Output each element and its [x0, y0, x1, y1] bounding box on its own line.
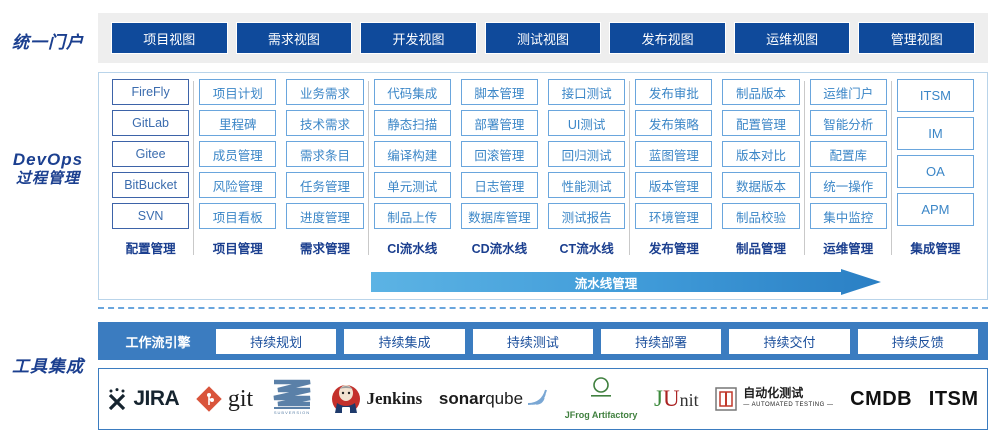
devops-cell[interactable]: 回归测试: [548, 141, 625, 167]
workflow-stage-6[interactable]: 持续反馈: [858, 329, 978, 354]
portal-button-5[interactable]: 发布视图: [609, 22, 726, 54]
devops-column-title: 制品管理: [722, 238, 799, 257]
section-divider: [98, 307, 988, 309]
sonarqube-label: sonarqube: [439, 389, 523, 409]
devops-column-9: 运维门户智能分析配置库统一操作集中监控运维管理: [805, 79, 892, 257]
git-icon: [196, 386, 222, 412]
devops-cell[interactable]: Gitee: [112, 141, 189, 167]
workflow-stage-1[interactable]: 持续规划: [216, 329, 336, 354]
column-spacer: [897, 231, 974, 237]
logo-junit[interactable]: JUnit: [654, 376, 699, 422]
devops-cell[interactable]: 运维门户: [810, 79, 887, 105]
devops-cell[interactable]: 性能测试: [548, 172, 625, 198]
portal-button-bar: 项目视图需求视图开发视图测试视图发布视图运维视图管理视图: [98, 13, 988, 63]
devops-cell[interactable]: 静态扫描: [374, 110, 451, 136]
devops-cell[interactable]: 智能分析: [810, 110, 887, 136]
portal-button-1[interactable]: 项目视图: [111, 22, 228, 54]
workflow-stage-2[interactable]: 持续集成: [344, 329, 464, 354]
portal-button-4[interactable]: 测试视图: [485, 22, 602, 54]
devops-cell[interactable]: 业务需求: [286, 79, 363, 105]
column-spacer: [548, 234, 625, 237]
devops-column-title: CI流水线: [374, 238, 451, 257]
sonarqube-wave-icon: [526, 388, 548, 411]
devops-cell[interactable]: 蓝图管理: [635, 141, 712, 167]
devops-cell[interactable]: BitBucket: [112, 172, 189, 198]
devops-cell[interactable]: 项目看板: [199, 203, 276, 229]
logo-sonarqube[interactable]: sonarqube: [439, 376, 548, 422]
rail-label-tools: 工具集成: [0, 352, 96, 377]
jenkins-icon: [331, 382, 361, 416]
logo-subversion[interactable]: SUBVERSION: [270, 376, 314, 422]
workflow-stage-4[interactable]: 持续部署: [601, 329, 721, 354]
devops-cell[interactable]: 需求条目: [286, 141, 363, 167]
devops-cell[interactable]: 制品上传: [374, 203, 451, 229]
jira-label: JIRA: [133, 387, 179, 411]
jfrog-block: JFrog Artifactory: [565, 376, 638, 423]
tool-logo-strip: JIRAgitSUBVERSIONJenkinssonarqubeJFrog A…: [98, 368, 988, 430]
devops-column-2: 项目计划里程碑成员管理风险管理项目看板项目管理: [194, 79, 281, 257]
devops-cell[interactable]: 成员管理: [199, 141, 276, 167]
devops-cell[interactable]: 进度管理: [286, 203, 363, 229]
column-spacer: [810, 234, 887, 237]
junit-label: JUnit: [654, 386, 699, 412]
logo-cmdb[interactable]: CMDB: [850, 376, 912, 422]
devops-cell[interactable]: 版本对比: [722, 141, 799, 167]
devops-column-4: 代码集成静态扫描编译构建单元测试制品上传CI流水线: [369, 79, 456, 257]
devops-cell[interactable]: SVN: [112, 203, 189, 229]
devops-cell[interactable]: 项目计划: [199, 79, 276, 105]
rail-label-portal: 统一门户: [0, 28, 96, 53]
devops-column-7: 发布审批发布策略蓝图管理版本管理环境管理发布管理: [630, 79, 717, 257]
rail-label-devops-en: DevOps: [0, 150, 96, 169]
devops-column-10: ITSMIMOAAPM集成管理: [892, 79, 979, 257]
devops-cell[interactable]: 数据库管理: [461, 203, 538, 229]
devops-cell[interactable]: 发布审批: [635, 79, 712, 105]
column-spacer: [722, 234, 799, 237]
workflow-stage-5[interactable]: 持续交付: [729, 329, 849, 354]
devops-cell[interactable]: 环境管理: [635, 203, 712, 229]
devops-column-6: 接口测试UI测试回归测试性能测试测试报告CT流水线: [543, 79, 630, 257]
workflow-stage-3[interactable]: 持续测试: [473, 329, 593, 354]
devops-process-card: FireFlyGitLabGiteeBitBucketSVN配置管理项目计划里程…: [98, 72, 988, 300]
devops-cell[interactable]: FireFly: [112, 79, 189, 105]
devops-column-title: 配置管理: [112, 238, 189, 257]
jira-icon: [107, 388, 127, 410]
devops-column-3: 业务需求技术需求需求条目任务管理进度管理需求管理: [281, 79, 368, 257]
devops-cell[interactable]: APM: [897, 193, 974, 226]
devops-cell[interactable]: 编译构建: [374, 141, 451, 167]
devops-cell[interactable]: 单元测试: [374, 172, 451, 198]
git-label: git: [228, 386, 253, 413]
itsm-label: ITSM: [929, 388, 979, 411]
devops-cell[interactable]: 配置库: [810, 141, 887, 167]
portal-button-2[interactable]: 需求视图: [236, 22, 353, 54]
logo-git[interactable]: git: [196, 376, 253, 422]
devops-cell[interactable]: 日志管理: [461, 172, 538, 198]
devops-column-5: 脚本管理部署管理回滚管理日志管理数据库管理CD流水线: [456, 79, 543, 257]
devops-column-title: 发布管理: [635, 238, 712, 257]
svg-text:SUBVERSION: SUBVERSION: [274, 410, 310, 415]
devops-cell[interactable]: 任务管理: [286, 172, 363, 198]
automated-testing-icon: [715, 387, 737, 411]
devops-cell[interactable]: IM: [897, 117, 974, 150]
devops-cell[interactable]: 接口测试: [548, 79, 625, 105]
devops-column-title: CT流水线: [548, 238, 625, 257]
devops-cell[interactable]: 数据版本: [722, 172, 799, 198]
devops-column-title: 集成管理: [897, 238, 974, 257]
pipeline-arrow-label: 流水线管理: [371, 269, 841, 295]
devops-column-8: 制品版本配置管理版本对比数据版本制品校验制品管理: [717, 79, 804, 257]
logo-automated-testing[interactable]: 自动化测试— AUTOMATED TESTING —: [715, 376, 833, 422]
column-spacer: [635, 234, 712, 237]
devops-cell[interactable]: 测试报告: [548, 203, 625, 229]
logo-jira[interactable]: JIRA: [107, 376, 179, 422]
column-spacer: [286, 234, 363, 237]
devops-cell[interactable]: 统一操作: [810, 172, 887, 198]
subversion-icon: SUBVERSION: [270, 378, 314, 421]
devops-column-title: 项目管理: [199, 238, 276, 257]
devops-columns: FireFlyGitLabGiteeBitBucketSVN配置管理项目计划里程…: [99, 73, 987, 257]
devops-cell[interactable]: 配置管理: [722, 110, 799, 136]
devops-column-title: 运维管理: [810, 238, 887, 257]
devops-cell[interactable]: 技术需求: [286, 110, 363, 136]
workflow-engine-label: 工作流引擎: [104, 332, 212, 351]
workflow-bar: 工作流引擎 持续规划持续集成持续测试持续部署持续交付持续反馈: [98, 322, 988, 360]
devops-cell[interactable]: 发布策略: [635, 110, 712, 136]
devops-cell[interactable]: 风险管理: [199, 172, 276, 198]
logo-itsm[interactable]: ITSM: [929, 376, 979, 422]
devops-cell[interactable]: 制品校验: [722, 203, 799, 229]
rail-label-devops: DevOps 过程管理: [0, 150, 96, 188]
jfrog-icon: [565, 376, 638, 405]
column-spacer: [461, 234, 538, 237]
column-spacer: [112, 234, 189, 237]
automated-testing-label: 自动化测试— AUTOMATED TESTING —: [743, 387, 833, 411]
devops-cell[interactable]: 里程碑: [199, 110, 276, 136]
devops-cell[interactable]: ITSM: [897, 79, 974, 112]
devops-column-1: FireFlyGitLabGiteeBitBucketSVN配置管理: [107, 79, 194, 257]
devops-cell[interactable]: 回滚管理: [461, 141, 538, 167]
devops-cell[interactable]: GitLab: [112, 110, 189, 136]
rail-label-devops-cn: 过程管理: [0, 169, 96, 188]
jenkins-label: Jenkins: [367, 389, 423, 409]
jfrog-label: JFrog Artifactory: [565, 410, 638, 420]
devops-cell[interactable]: UI测试: [548, 110, 625, 136]
devops-column-title: CD流水线: [461, 238, 538, 257]
logo-jfrog-artifactory[interactable]: JFrog Artifactory: [565, 376, 638, 422]
column-spacer: [199, 234, 276, 237]
devops-cell[interactable]: OA: [897, 155, 974, 188]
portal-button-7[interactable]: 管理视图: [858, 22, 975, 54]
portal-button-6[interactable]: 运维视图: [734, 22, 851, 54]
devops-cell[interactable]: 部署管理: [461, 110, 538, 136]
devops-column-title: 需求管理: [286, 238, 363, 257]
devops-cell[interactable]: 代码集成: [374, 79, 451, 105]
devops-cell[interactable]: 脚本管理: [461, 79, 538, 105]
cmdb-label: CMDB: [850, 388, 912, 411]
devops-cell[interactable]: 制品版本: [722, 79, 799, 105]
logo-jenkins[interactable]: Jenkins: [331, 376, 423, 422]
column-spacer: [374, 234, 451, 237]
devops-cell[interactable]: 版本管理: [635, 172, 712, 198]
devops-cell[interactable]: 集中监控: [810, 203, 887, 229]
portal-button-3[interactable]: 开发视图: [360, 22, 477, 54]
